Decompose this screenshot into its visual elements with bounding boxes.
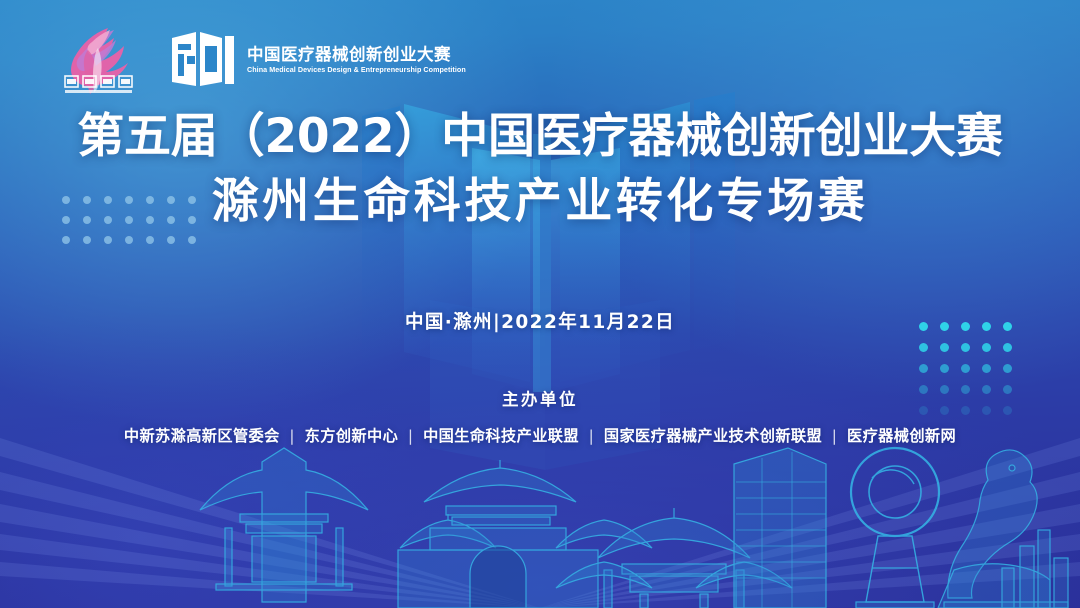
open-book-mark-icon — [170, 30, 236, 90]
innovation-china-logo — [62, 24, 148, 96]
host-section-label: 主办单位 — [0, 386, 1080, 410]
chinese-pavilion-icon — [200, 448, 368, 602]
glow-bottom-left — [0, 308, 460, 608]
competition-logo: 中国医疗器械创新创业大赛 China Medical Devices Desig… — [170, 30, 473, 90]
host-item: 中国生命科技产业联盟 — [423, 427, 579, 445]
header-logo-bar: 中国医疗器械创新创业大赛 China Medical Devices Desig… — [62, 24, 473, 96]
host-item: 国家医疗器械产业技术创新联盟 — [604, 427, 822, 445]
glow-bottom-center — [0, 308, 1080, 608]
host-organization-list: 中新苏滁高新区管委会 | 东方创新中心 | 中国生命科技产业联盟 | 国家医疗器… — [0, 424, 1080, 446]
host-item: 医疗器械创新网 — [847, 427, 956, 445]
host-separator: | — [828, 427, 842, 445]
page-title-line2: 滁州生命科技产业转化专场赛 — [0, 171, 1080, 232]
date-location-text: 中国·滁州|2022年11月22日 — [405, 312, 675, 333]
page-title-line1: 第五届（2022）中国医疗器械创新创业大赛 — [0, 108, 1080, 166]
competition-logo-en-title: China Medical Devices Design & Entrepren… — [247, 66, 466, 74]
date-location-bar: 中国·滁州|2022年11月22日 — [0, 308, 1080, 334]
small-skyline-icon — [1002, 530, 1068, 608]
merlion-statue-icon — [938, 450, 1068, 608]
competition-logo-cn-title: 中国医疗器械创新创业大赛 — [247, 46, 473, 63]
host-item: 中新苏滁高新区管委会 — [124, 427, 280, 445]
host-item: 东方创新中心 — [305, 427, 399, 445]
ring-sculpture-icon — [851, 448, 939, 608]
event-banner: 中国医疗器械创新创业大赛 China Medical Devices Desig… — [0, 0, 1080, 608]
host-block: 主办单位 中新苏滁高新区管委会 | 东方创新中心 | 中国生命科技产业联盟 | … — [0, 386, 1080, 446]
host-separator: | — [285, 427, 299, 445]
host-separator: | — [404, 427, 418, 445]
city-skyline-graphic — [0, 418, 1080, 608]
modern-office-tower-icon — [734, 448, 826, 608]
phoenix-bird-emblem-icon — [62, 24, 148, 96]
title-block: 第五届（2022）中国医疗器械创新创业大赛 滁州生命科技产业转化专场赛 — [0, 108, 1080, 232]
paifang-archway-icon — [556, 508, 792, 608]
host-separator: | — [585, 427, 599, 445]
city-gate-tower-icon — [398, 460, 652, 608]
